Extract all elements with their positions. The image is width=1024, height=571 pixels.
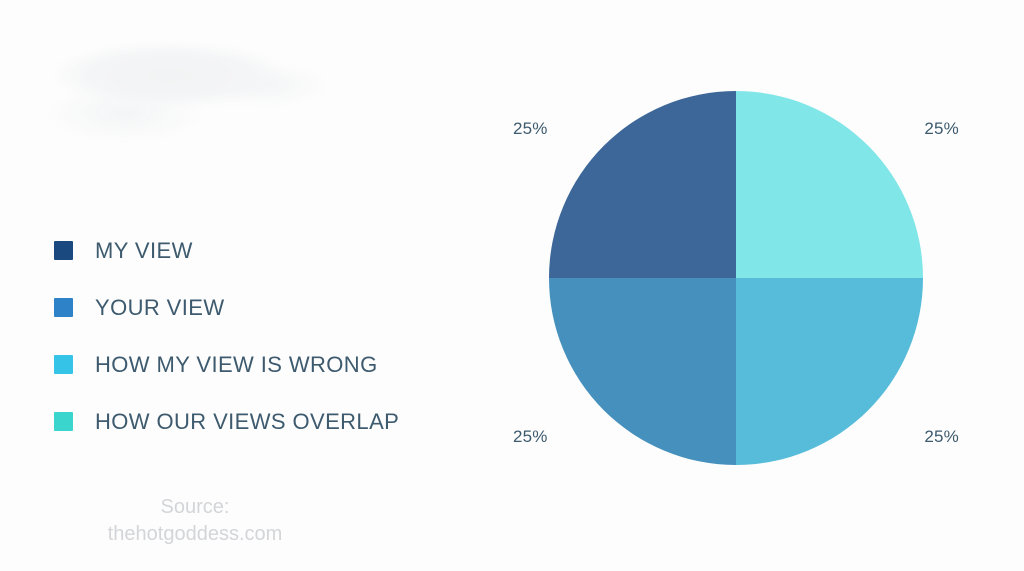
legend-swatch-your-view <box>54 298 73 317</box>
legend-item-my-view[interactable]: MY VIEW <box>54 222 474 279</box>
legend-swatch-my-view <box>54 241 73 260</box>
legend-label-how-my-view-is-wrong: HOW MY VIEW IS WRONG <box>95 352 378 378</box>
erased-title-smudge <box>30 35 330 140</box>
legend-swatch-how-our-views-overlap <box>54 412 73 431</box>
source-label: Source: <box>70 494 320 521</box>
legend-label-your-view: YOUR VIEW <box>95 295 225 321</box>
pie-slice-your-view[interactable] <box>549 278 736 465</box>
chart-legend: MY VIEW YOUR VIEW HOW MY VIEW IS WRONG H… <box>54 222 474 450</box>
legend-item-how-our-views-overlap[interactable]: HOW OUR VIEWS OVERLAP <box>54 393 474 450</box>
pie-label-how-our-views-overlap: 25% <box>924 119 959 139</box>
pie-chart: 25% 25% 25% 25% <box>549 91 923 465</box>
legend-item-your-view[interactable]: YOUR VIEW <box>54 279 474 336</box>
source-url: thehotgoddess.com <box>70 521 320 548</box>
legend-item-how-my-view-is-wrong[interactable]: HOW MY VIEW IS WRONG <box>54 336 474 393</box>
pie-label-your-view: 25% <box>513 427 548 447</box>
source-attribution: Source: thehotgoddess.com <box>70 494 320 548</box>
pie-slice-how-my-view-is-wrong[interactable] <box>736 278 923 465</box>
pie-circle <box>549 91 923 465</box>
legend-label-how-our-views-overlap: HOW OUR VIEWS OVERLAP <box>95 409 399 435</box>
pie-slice-how-our-views-overlap[interactable] <box>736 91 923 278</box>
pie-label-my-view: 25% <box>513 119 548 139</box>
legend-swatch-how-my-view-is-wrong <box>54 355 73 374</box>
pie-label-how-my-view-is-wrong: 25% <box>924 427 959 447</box>
pie-slice-my-view[interactable] <box>549 91 736 278</box>
legend-label-my-view: MY VIEW <box>95 238 193 264</box>
